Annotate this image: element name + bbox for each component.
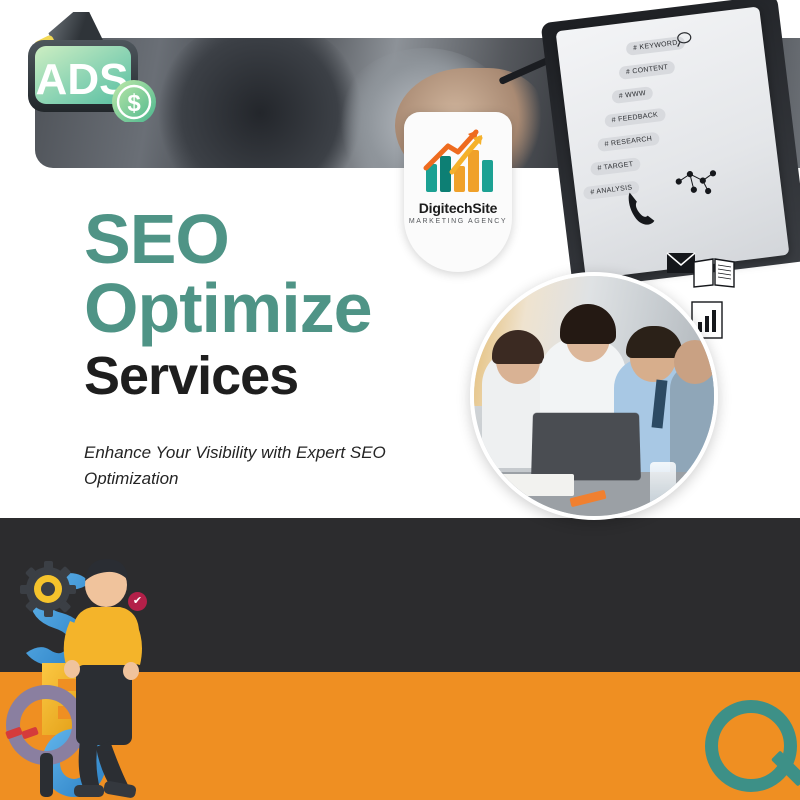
tablet-screen: # KEYWORD # CONTENT # WWW # FEEDBACK # R… [556, 6, 790, 279]
network-nodes-icon [671, 163, 721, 202]
dollar-symbol: $ [127, 90, 141, 117]
headline-line-2: Optimize [84, 273, 372, 343]
tablet-tag-research: # RESEARCH [597, 132, 660, 152]
headline-block: SEO Optimize Services [84, 207, 372, 403]
photo-laptop [531, 413, 641, 481]
seo-character-illustration [0, 545, 180, 800]
tablet-tag-feedback: # FEEDBACK [604, 108, 666, 128]
brand-logo-badge: DigitechSite MARKETING AGENCY [404, 112, 512, 272]
photo-water-glass [650, 462, 676, 512]
logo-brand-name: DigitechSite [404, 200, 512, 216]
gear-icon [20, 561, 76, 617]
tablet-tag-content: # CONTENT [618, 60, 676, 80]
photo-papers [498, 474, 574, 496]
telephone-handset-icon [623, 185, 662, 231]
magnifier-icon [674, 29, 696, 51]
headline-subtitle: Enhance Your Visibility with Expert SEO … [84, 440, 404, 493]
headline-line-3: Services [84, 349, 372, 403]
ads-badge: ADS $ [10, 12, 160, 122]
logo-tagline: MARKETING AGENCY [404, 218, 512, 225]
magnifier-ring-decor-icon [705, 700, 797, 792]
photo-person-4-head [674, 340, 716, 384]
headline-line-1: SEO [84, 207, 372, 271]
team-photo [470, 272, 718, 520]
logo-bar-chart-icon [418, 126, 498, 196]
tablet-tag-www: # WWW [611, 86, 653, 104]
hero-blur-shape-left [155, 38, 365, 168]
tablet-tag-target: # TARGET [590, 157, 641, 176]
check-badge-icon: ✔ [128, 592, 147, 611]
seo-services-flyer: # KEYWORD # CONTENT # WWW # FEEDBACK # R… [0, 0, 800, 800]
